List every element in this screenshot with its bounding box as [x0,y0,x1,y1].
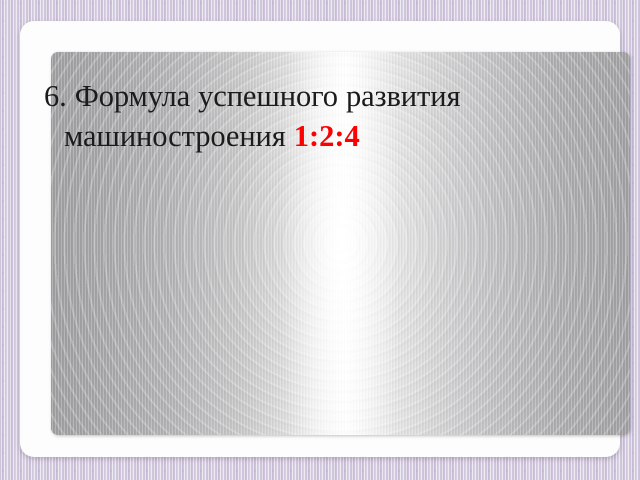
slide-white-frame: 6. Формула успешного развития машиностро… [20,21,620,457]
slide-title-block: 6. Формула успешного развития машиностро… [32,76,572,157]
presentation-slide: 6. Формула успешного развития машиностро… [0,0,640,480]
page-title: 6. Формула успешного развития машиностро… [32,76,572,157]
title-ratio-accent: 1:2:4 [294,119,360,153]
title-main-text: 6. Формула успешного развития машиностро… [44,79,460,153]
